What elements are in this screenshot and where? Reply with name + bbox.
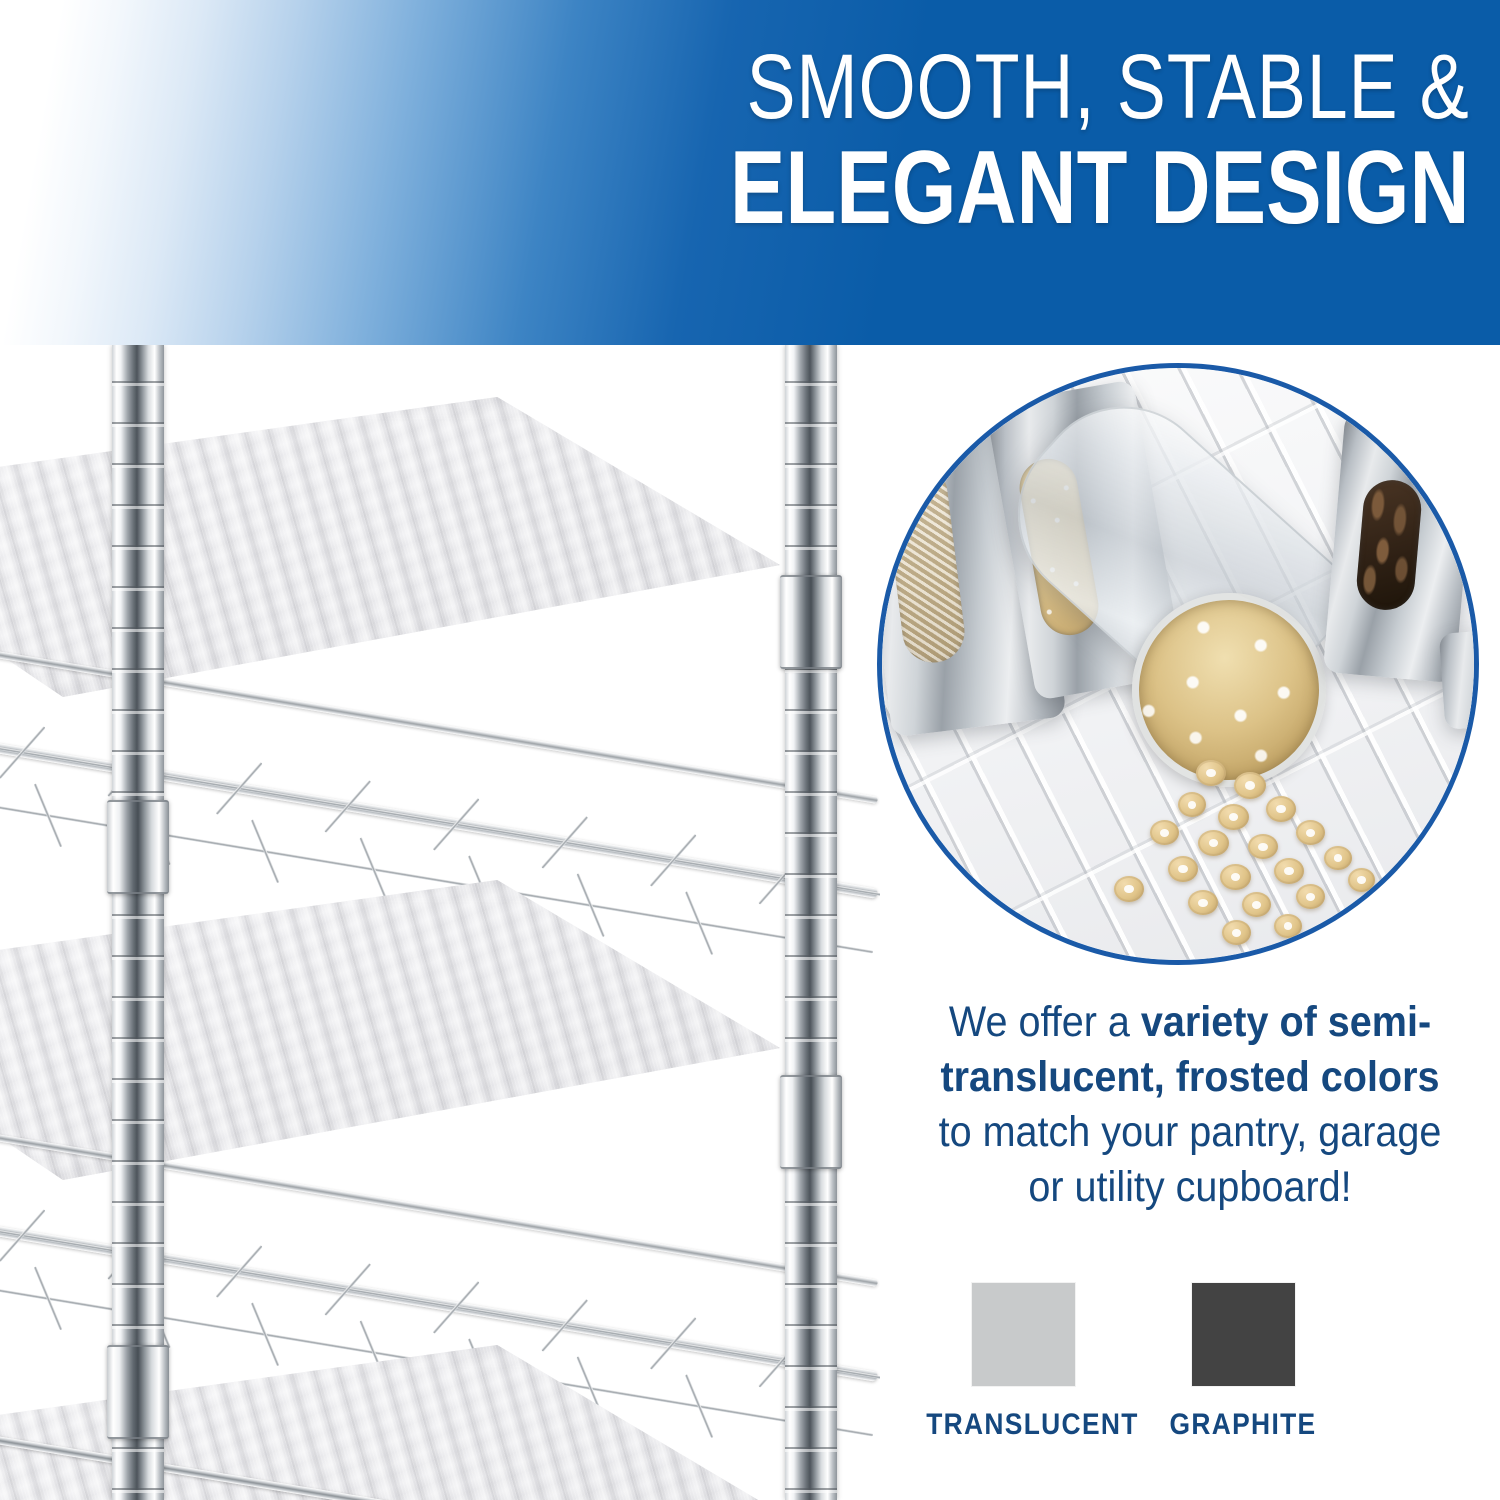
shelving-post-collar-left-upper — [107, 800, 169, 894]
cereal-piece — [1234, 772, 1266, 799]
swatch-translucent[interactable]: TRANSLUCENT — [913, 1283, 1133, 1442]
swatch-graphite[interactable]: GRAPHITE — [1133, 1283, 1353, 1442]
cereal-piece — [1196, 760, 1226, 786]
cereal-piece — [1114, 876, 1144, 902]
cereal-piece — [1296, 820, 1325, 845]
cereal-piece — [1178, 792, 1206, 817]
cereal-piece — [1324, 846, 1352, 870]
product-photo-wire-shelving — [0, 345, 880, 1500]
cereal-piece — [1248, 834, 1278, 859]
cereal-piece — [1242, 892, 1271, 917]
cereal-piece — [1296, 884, 1325, 909]
shelving-post-collar-right-lower — [780, 1075, 842, 1169]
cereal-piece — [1220, 864, 1251, 890]
inset-photo-content — [882, 368, 1474, 960]
copy-segment-1: We offer a — [949, 998, 1141, 1046]
shelving-post-collar-right-upper — [780, 575, 842, 669]
canister-coffee-window — [1354, 478, 1423, 613]
color-swatch-group: TRANSLUCENT GRAPHITE — [905, 1283, 1475, 1453]
shelving-post-left — [112, 345, 164, 1500]
cereal-piece — [1348, 868, 1375, 892]
canister-lid — [1439, 626, 1474, 729]
swatch-label-graphite: GRAPHITE — [1146, 1408, 1340, 1442]
wire-shelving-unit — [0, 345, 880, 1500]
header-banner: SMOOTH, STABLE & ELEGANT DESIGN — [0, 0, 1500, 345]
headline-line-1: SMOOTH, STABLE & — [730, 44, 1470, 131]
swatch-label-translucent: TRANSLUCENT — [926, 1408, 1120, 1442]
swatch-chip-graphite[interactable] — [1192, 1283, 1295, 1386]
swatch-chip-translucent[interactable] — [972, 1283, 1075, 1386]
cereal-piece — [1218, 804, 1249, 830]
copy-segment-3: to match your pantry, garage or utility … — [939, 1108, 1442, 1211]
shelving-post-collar-left-lower — [107, 1345, 169, 1439]
cereal-piece — [1222, 920, 1251, 945]
cereal-piece — [1266, 796, 1296, 822]
marketing-copy: We offer a variety of semi-translucent, … — [928, 995, 1452, 1215]
cereal-piece — [1168, 856, 1198, 882]
cereal-piece — [1274, 914, 1302, 938]
cereal-piece — [1274, 858, 1304, 884]
headline-block: SMOOTH, STABLE & ELEGANT DESIGN — [545, 44, 1470, 238]
cereal-piece — [1198, 830, 1229, 856]
cereal-piece — [1150, 820, 1179, 845]
shelving-post-right — [785, 345, 837, 1500]
headline-line-2: ELEGANT DESIGN — [730, 139, 1470, 238]
product-marketing-image: SMOOTH, STABLE & ELEGANT DESIGN — [0, 0, 1500, 1500]
cereal-piece — [1188, 890, 1218, 915]
inset-photo-circle — [877, 363, 1479, 965]
